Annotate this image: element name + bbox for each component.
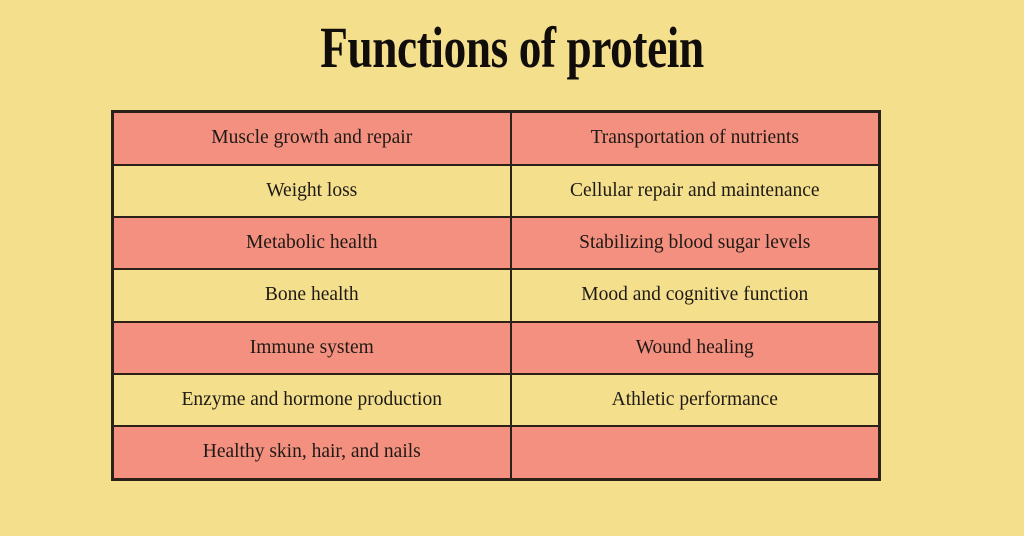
table-body: Muscle growth and repair Transportation …	[113, 112, 880, 480]
table-cell-function: Mood and cognitive function	[511, 269, 880, 321]
poster-canvas: Functions of protein Muscle growth and r…	[0, 0, 1024, 536]
table-cell-empty	[511, 426, 880, 479]
table-row: Immune system Wound healing	[113, 322, 880, 374]
page-title: Functions of protein	[113, 19, 912, 77]
table-cell-function: Weight loss	[113, 165, 511, 217]
table-cell-function: Cellular repair and maintenance	[511, 165, 880, 217]
table-row: Metabolic health Stabilizing blood sugar…	[113, 217, 880, 269]
table-row: Healthy skin, hair, and nails	[113, 426, 880, 479]
table-cell-function: Bone health	[113, 269, 511, 321]
table-cell-function: Transportation of nutrients	[511, 112, 880, 165]
table-cell-function: Metabolic health	[113, 217, 511, 269]
table-cell-function: Athletic performance	[511, 374, 880, 426]
table-row: Weight loss Cellular repair and maintena…	[113, 165, 880, 217]
table-cell-function: Enzyme and hormone production	[113, 374, 511, 426]
table-cell-function: Immune system	[113, 322, 511, 374]
table-row: Muscle growth and repair Transportation …	[113, 112, 880, 165]
table-cell-function: Stabilizing blood sugar levels	[511, 217, 880, 269]
table-row: Enzyme and hormone production Athletic p…	[113, 374, 880, 426]
table-row: Bone health Mood and cognitive function	[113, 269, 880, 321]
functions-of-protein-table: Muscle growth and repair Transportation …	[111, 110, 881, 481]
table-cell-function: Healthy skin, hair, and nails	[113, 426, 511, 479]
table-cell-function: Wound healing	[511, 322, 880, 374]
table-cell-function: Muscle growth and repair	[113, 112, 511, 165]
